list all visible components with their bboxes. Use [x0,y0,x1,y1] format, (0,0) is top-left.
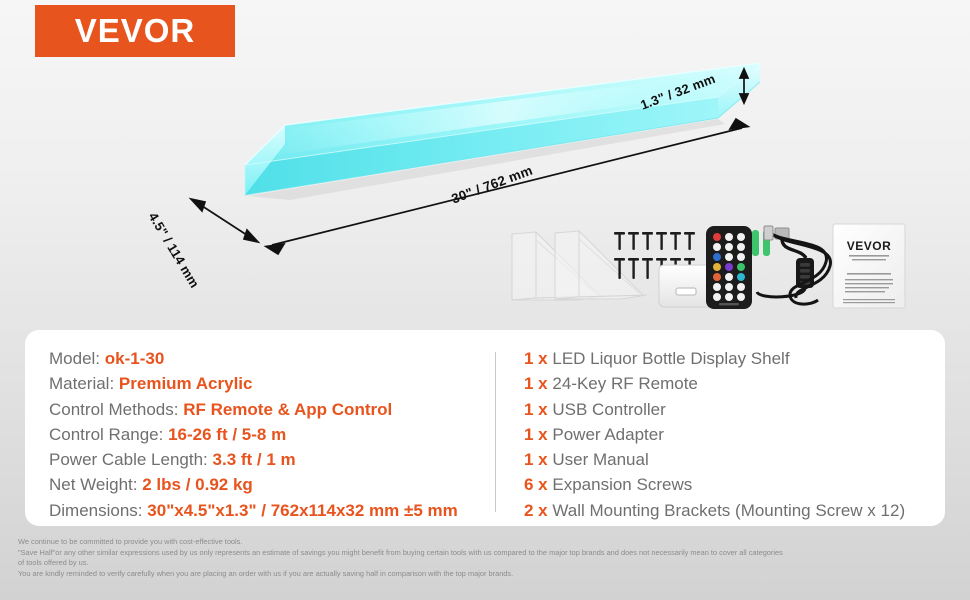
spec-label: Control Methods: [49,400,178,419]
package-row: 1 x LED Liquor Bottle Display Shelf [524,346,945,371]
spec-row: Power Cable Length: 3.3 ft / 1 m [49,447,495,472]
spec-row: Control Range: 16-26 ft / 5-8 m [49,422,495,447]
disclaimer-line-3: of tools offered by us. [18,558,958,569]
spec-row: Net Weight: 2 lbs / 0.92 kg [49,472,495,497]
spec-value: 2 lbs / 0.92 kg [142,475,253,494]
spec-row: Dimensions: 30"x4.5"x1.3" / 762x114x32 m… [49,498,495,523]
package-item: USB Controller [552,400,665,419]
package-row: 1 x USB Controller [524,397,945,422]
spec-label: Dimensions: [49,501,143,520]
package-row: 6 x Expansion Screws [524,472,945,497]
spec-value: 16-26 ft / 5-8 m [168,425,286,444]
spec-label: Control Range: [49,425,163,444]
package-row: 2 x Wall Mounting Brackets (Mounting Scr… [524,498,945,523]
spec-value: RF Remote & App Control [183,400,392,419]
spec-label: Model: [49,349,100,368]
package-item: LED Liquor Bottle Display Shelf [552,349,789,368]
package-qty: 1 x [524,349,548,368]
package-qty: 1 x [524,450,548,469]
package-item: 24-Key RF Remote [552,374,698,393]
spec-value: ok-1-30 [105,349,165,368]
spec-value: 30"x4.5"x1.3" / 762x114x32 mm ±5 mm [147,501,457,520]
spec-value: 3.3 ft / 1 m [213,450,296,469]
package-item: Expansion Screws [552,475,692,494]
disclaimer-line-4: You are kindly reminded to verify carefu… [18,569,958,580]
package-item: Wall Mounting Brackets (Mounting Screw x… [552,501,905,520]
package-item: User Manual [552,450,648,469]
package-contents-list: 1 x LED Liquor Bottle Display Shelf 1 x … [496,346,945,526]
package-row: 1 x Power Adapter [524,422,945,447]
package-row: 1 x 24-Key RF Remote [524,371,945,396]
footer-disclaimer: We continue to be committed to provide y… [18,537,958,579]
package-qty: 1 x [524,400,548,419]
package-qty: 1 x [524,425,548,444]
spec-row: Control Methods: RF Remote & App Control [49,397,495,422]
package-item: Power Adapter [552,425,664,444]
disclaimer-line-2: "Save Half"or any other similar expressi… [18,548,958,559]
spec-value: Premium Acrylic [119,374,253,393]
spec-label: Power Cable Length: [49,450,208,469]
spec-label: Material: [49,374,114,393]
disclaimer-line-1: We continue to be committed to provide y… [18,537,958,548]
spec-row: Model: ok-1-30 [49,346,495,371]
spec-label: Net Weight: [49,475,138,494]
product-illustration [0,0,970,330]
package-qty: 1 x [524,374,548,393]
package-row: 1 x User Manual [524,447,945,472]
package-qty: 6 x [524,475,548,494]
package-qty: 2 x [524,501,548,520]
spec-card: Model: ok-1-30 Material: Premium Acrylic… [25,330,945,526]
specifications-list: Model: ok-1-30 Material: Premium Acrylic… [25,346,495,526]
spec-row: Material: Premium Acrylic [49,371,495,396]
product-hero-image: 30" / 762 mm 1.3" / 32 mm 4.5" / 114 mm [0,0,970,330]
